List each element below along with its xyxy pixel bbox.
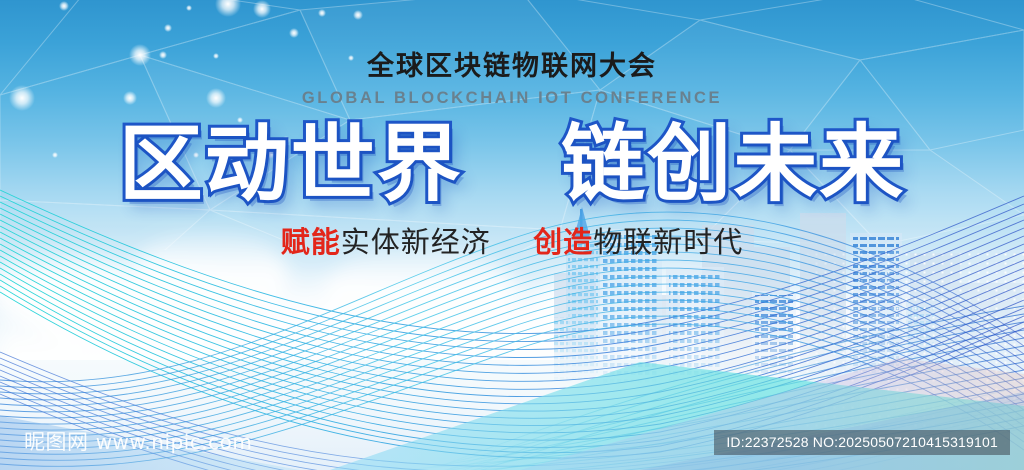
sub-headline-text-2: 物联新时代 [593,225,743,259]
site-watermark-cn: 昵图网 [24,430,89,454]
sub-headline-accent-1: 赋能 [281,225,341,259]
poster-canvas: 全球区块链物联网大会 GLOBAL BLOCKCHAIN IOT CONFERE… [0,0,1024,470]
site-watermark: 昵图网 www.nipic.com [24,426,252,456]
conference-chinese-title: 全球区块链物联网大会 [0,52,1024,82]
poster-text-block: 全球区块链物联网大会 GLOBAL BLOCKCHAIN IOT CONFERE… [0,0,1024,257]
conference-english-title: GLOBAL BLOCKCHAIN IOT CONFERENCE [0,89,1024,108]
image-id-bar: ID:22372528 NO:20250507210415319101 [714,430,1010,455]
main-headline: 区动世界 链创未来 [0,122,1024,206]
main-headline-right: 链创未来 [561,115,905,213]
main-headline-left: 区动世界 [119,115,463,213]
sub-headline: 赋能实体新经济 创造物联新时代 [0,228,1024,257]
sub-headline-text-1: 实体新经济 [341,225,491,259]
site-watermark-url: www.nipic.com [96,430,253,454]
sub-headline-accent-2: 创造 [533,225,593,259]
